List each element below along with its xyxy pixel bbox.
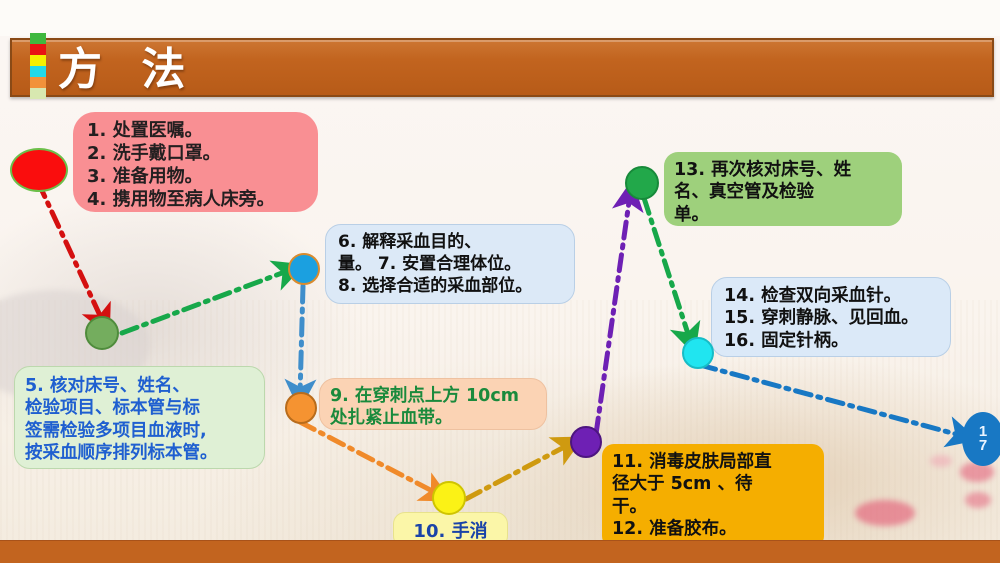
swatch-yellow xyxy=(30,55,46,66)
swatch-cyan xyxy=(30,66,46,77)
callout-box-1-4[interactable]: 1. 处置医嘱。 2. 洗手戴口罩。 3. 准备用物。 4. 携用物至病人床旁。 xyxy=(73,112,318,212)
callout-box-5[interactable]: 5. 核对床号、姓名、 检验项目、标本管与标 签需检验多项目血液时, 按采血顺序… xyxy=(14,366,265,469)
bottom-bar xyxy=(0,541,1000,563)
background-blob-4 xyxy=(965,492,991,508)
swatch-green xyxy=(30,33,46,44)
node-7[interactable] xyxy=(625,166,659,200)
callout-box-14-16[interactable]: 14. 检查双向采血针。 15. 穿刺静脉、见回血。 16. 固定针柄。 xyxy=(711,277,951,357)
background-blob-5 xyxy=(930,455,952,467)
node-2[interactable] xyxy=(85,316,119,350)
page-number-badge: 1 7 xyxy=(962,412,1000,466)
node-6[interactable] xyxy=(570,426,602,458)
node-3[interactable] xyxy=(288,253,320,285)
callout-box-13[interactable]: 13. 再次核对床号、姓 名、真空管及检验 单。 xyxy=(664,152,902,226)
node-8[interactable] xyxy=(682,337,714,369)
swatch-orange xyxy=(30,77,46,88)
node-5[interactable] xyxy=(432,481,466,515)
background-blob-2 xyxy=(855,500,915,526)
node-start[interactable] xyxy=(10,148,68,192)
callout-box-11-12[interactable]: 11. 消毒皮肤局部直 径大于 5cm 、待 干。 12. 准备胶布。 xyxy=(602,444,824,548)
callout-box-9[interactable]: 9. 在穿刺点上方 10cm 处扎紧止血带。 xyxy=(319,378,547,430)
swatch-pale xyxy=(30,88,46,99)
node-4[interactable] xyxy=(285,392,317,424)
page-number-digit-2: 7 xyxy=(979,439,987,453)
swatch-red xyxy=(30,44,46,55)
color-swatch-strip xyxy=(30,33,46,99)
callout-box-6-8[interactable]: 6. 解释采血目的、 量。 7. 安置合理体位。 8. 选择合适的采血部位。 xyxy=(325,224,575,304)
slide-canvas: 1. 处置医嘱。 2. 洗手戴口罩。 3. 准备用物。 4. 携用物至病人床旁。… xyxy=(0,0,1000,563)
slide-title: 方 法 xyxy=(58,36,197,94)
